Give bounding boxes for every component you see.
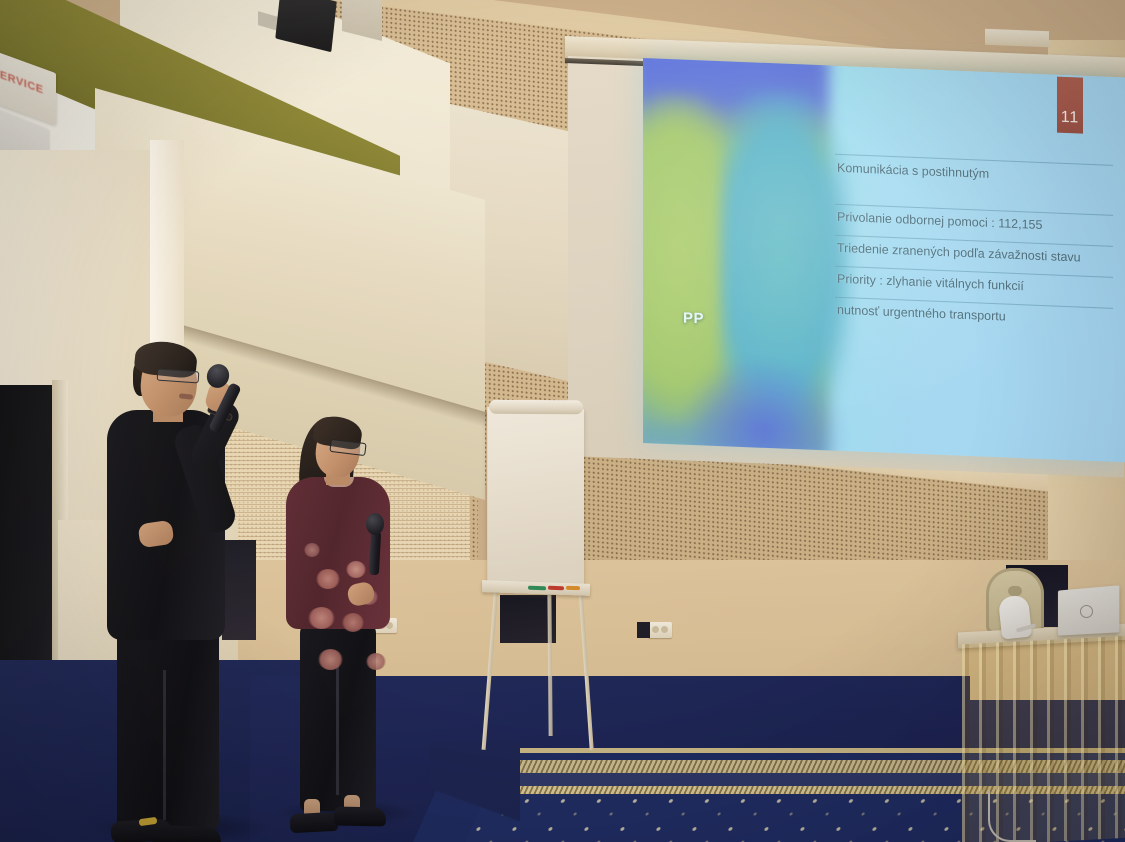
marker-pen[interactable] — [528, 586, 546, 591]
presenter-male — [95, 340, 275, 842]
wall-sign-label: SERVICE — [0, 66, 44, 97]
slide-number-label: 11 — [1061, 109, 1080, 128]
projection-screen-mount-tab — [985, 29, 1049, 47]
blouse-flower — [304, 543, 320, 557]
blouse-flower — [308, 607, 335, 629]
slide-bullet-list: Komunikácia s postihnutým Privolanie odb… — [835, 154, 1113, 339]
blouse-flower — [318, 649, 343, 670]
female-shoe-left — [290, 812, 339, 833]
marker-pen[interactable] — [548, 586, 564, 591]
slide-number-badge: 11 — [1057, 77, 1083, 134]
female-trouser-seam — [336, 665, 339, 795]
microphone-head-icon[interactable] — [366, 513, 384, 535]
flipchart-paper-creases — [487, 407, 584, 588]
male-shoe-right — [151, 825, 222, 842]
power-outlet[interactable] — [648, 622, 672, 638]
blouse-flower — [346, 561, 366, 578]
marker-pen[interactable] — [566, 586, 580, 590]
blouse-flower — [316, 569, 340, 589]
slide-photo-gradient — [643, 58, 819, 450]
rug-edge-left — [430, 742, 520, 842]
presentation-photo-scene: SERVICE PP 11 — [0, 0, 1125, 842]
laptop-logo-icon — [1080, 605, 1093, 618]
flipchart-paper-roll — [489, 400, 583, 414]
blouse-flower — [342, 613, 364, 632]
blouse-flower — [366, 653, 386, 670]
projected-slide: PP 11 Komunikácia s postihnutým Privolan… — [643, 58, 1125, 462]
male-trouser-seam — [163, 670, 166, 820]
female-shoe-right — [334, 807, 386, 827]
white-av-device[interactable] — [998, 595, 1032, 640]
slide-photo-label: PP — [683, 310, 704, 328]
table-skirt-drape — [962, 636, 1125, 842]
male-trousers — [117, 620, 219, 830]
wall-socket-dark[interactable] — [637, 622, 650, 638]
power-cable — [988, 790, 1036, 842]
chair-back-cutout — [1008, 586, 1022, 596]
presenter-female — [272, 415, 412, 842]
